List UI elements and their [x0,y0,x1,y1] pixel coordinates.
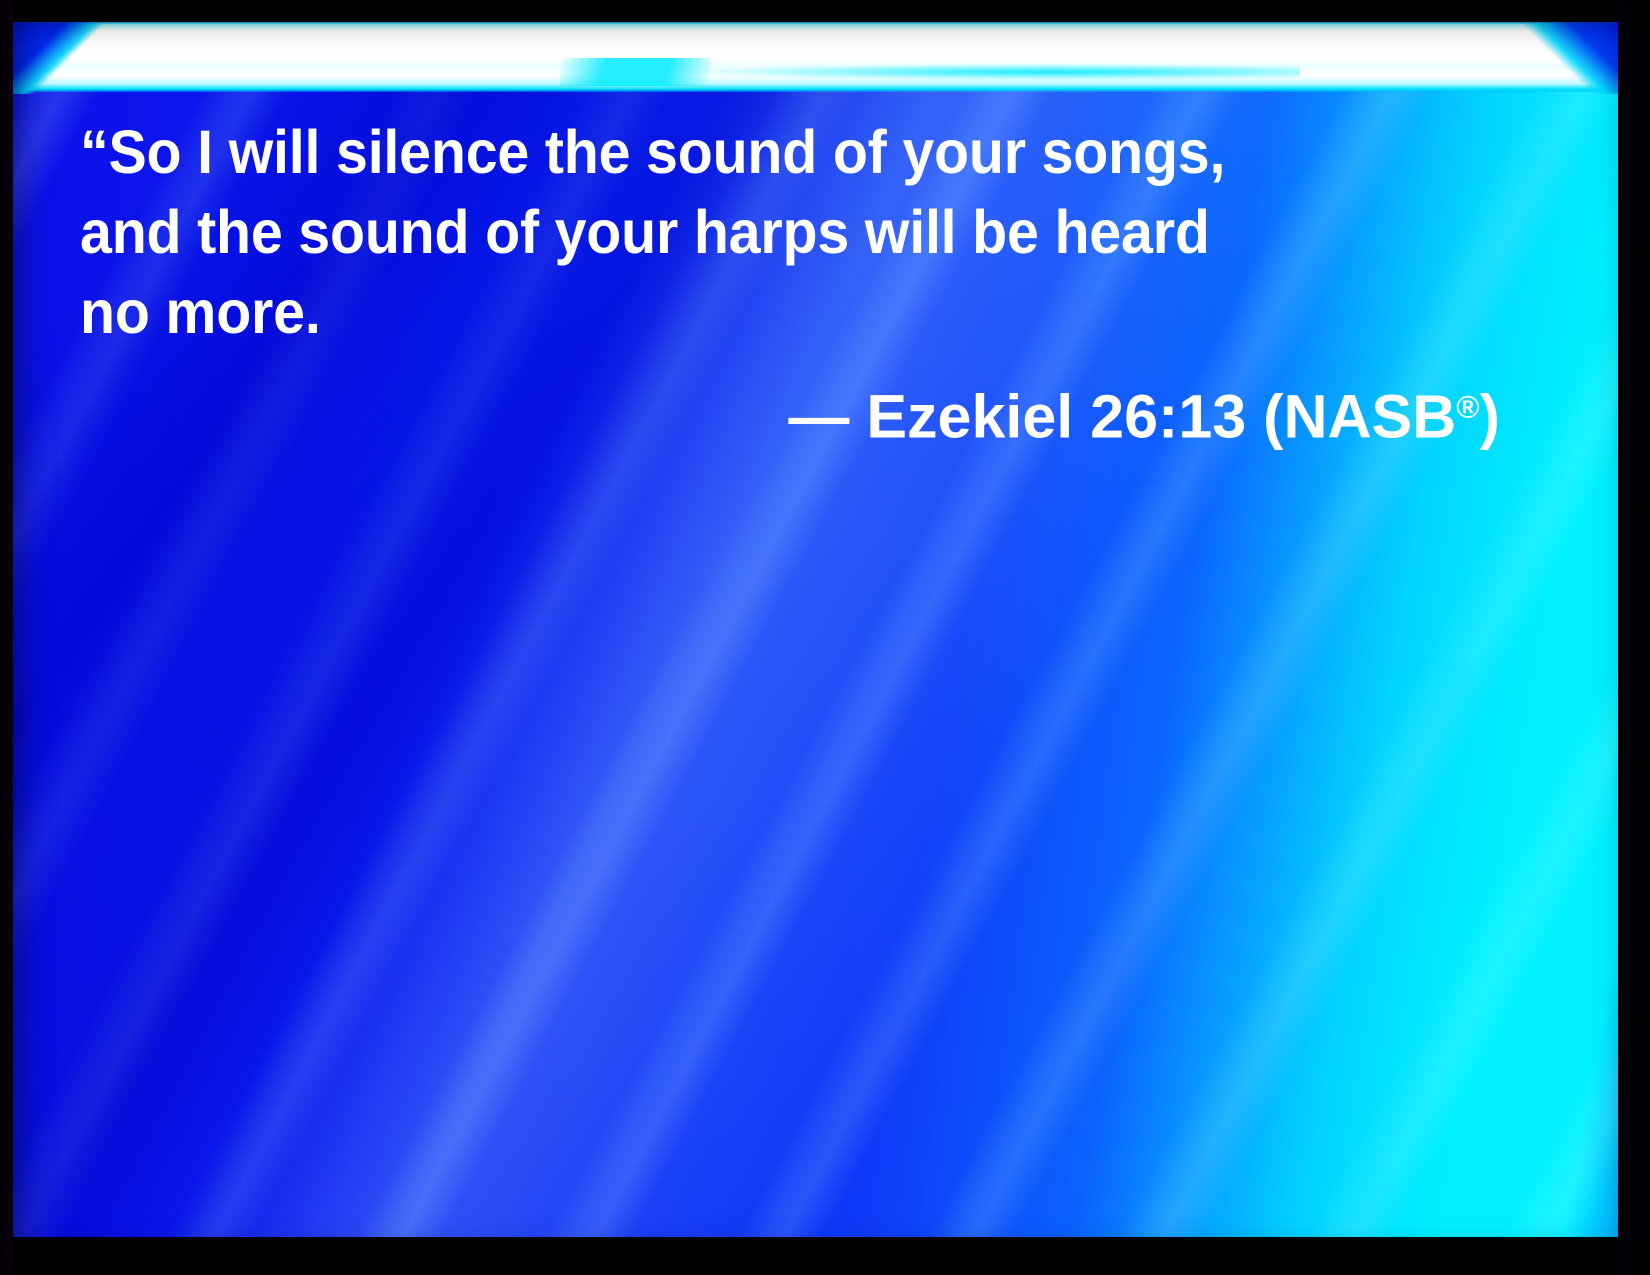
citation-reference: 26:13 [1090,383,1246,451]
frame-border-top [0,0,1650,22]
header-cyan-wisp-left [560,58,710,86]
citation-version-close: ) [1480,383,1500,451]
citation-em-dash: — [788,383,849,451]
header-glow-band [12,22,1619,92]
frame-border-bottom [0,1237,1650,1275]
scripture-slide: “So I will silence the sound of your son… [0,0,1650,1275]
quote-line-1: “So I will silence the sound of your son… [80,112,1415,192]
quote-line-3: no more. [80,272,1415,352]
frame-border-left [0,0,13,1275]
frame-top-rim [0,18,1650,24]
registered-trademark-icon: ® [1456,389,1479,425]
header-cyan-wisp-right [680,64,1300,80]
quote-line-2: and the sound of your harps will be hear… [80,192,1415,272]
citation-version-open: (NASB [1263,383,1456,451]
header-bevel-right-corner [1500,22,1619,94]
frame-border-right [1618,0,1650,1275]
scripture-citation: — Ezekiel 26:13 (NASB®) [80,367,1500,457]
header-bevel-left-corner [12,22,122,94]
citation-book: Ezekiel [866,383,1073,451]
quote-text-block: “So I will silence the sound of your son… [80,112,1500,352]
